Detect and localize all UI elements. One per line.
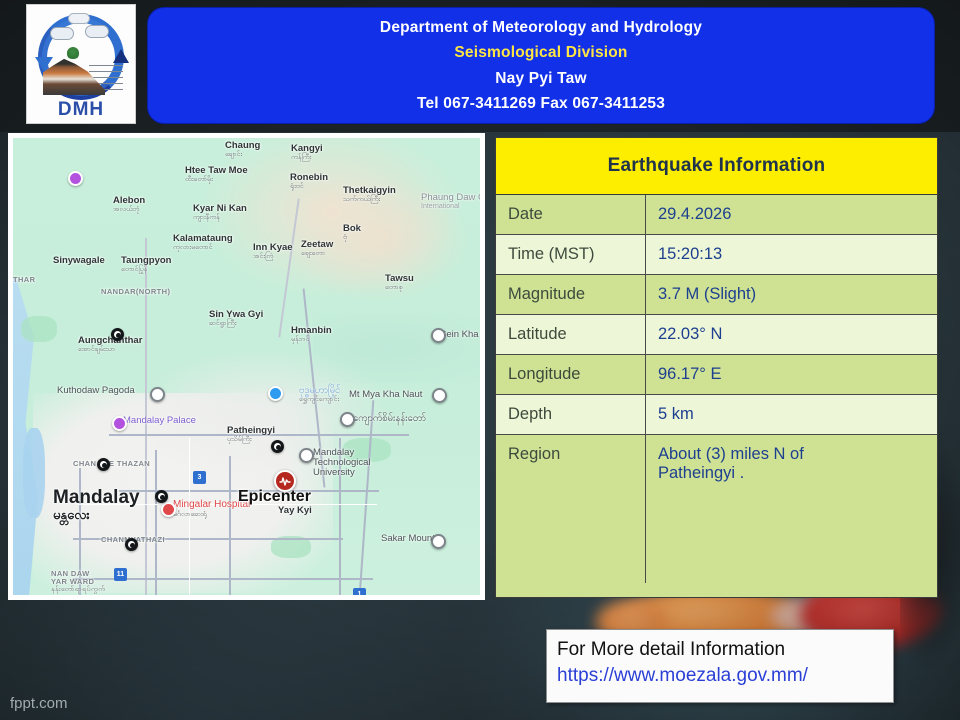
table-cell-label: Magnitude xyxy=(496,275,646,314)
table-cell-label: Latitude xyxy=(496,315,646,354)
banner-line-division: Seismological Division xyxy=(454,40,627,65)
map-label: Sin Ywa Gyiဆင်ရွာကြီး xyxy=(209,310,263,327)
map-pin-pagoda[interactable] xyxy=(150,387,165,402)
map-route-shield-icon: 1 xyxy=(353,588,366,595)
table-cell-value: 5 km xyxy=(646,395,937,434)
map-pin-palace[interactable] xyxy=(112,416,127,431)
map-label: Taungpyonတောင်ပြုန် xyxy=(121,256,171,273)
table-title: Earthquake Information xyxy=(608,155,826,177)
table-row: Date 29.4.2026 xyxy=(496,195,937,235)
map-green-patch xyxy=(21,316,57,342)
logo-cloud-icon-left xyxy=(50,27,74,40)
table-cell-value: 29.4.2026 xyxy=(646,195,937,234)
map-label: Chaungချောင်း xyxy=(225,141,260,158)
map-label: Thetkaigyinသက်ကယ်ကြီး xyxy=(343,186,396,203)
map-label: Aungchantharအောင်ချမ်းသာ xyxy=(78,336,142,353)
table-cell-label: Region xyxy=(496,435,646,583)
map-label-city: Mandalayမန္တလေး xyxy=(53,488,140,522)
map-label-district: THAR xyxy=(13,276,35,284)
table-row: Longitude 96.17° E xyxy=(496,355,937,395)
table-cell-label: Time (MST) xyxy=(496,235,646,274)
map-label: Hmanbinမှန်ဘင် xyxy=(291,326,332,343)
map-label: Tawsuတောစု xyxy=(385,274,414,291)
map-pin-mountain[interactable] xyxy=(431,328,446,343)
table-cell-label: Depth xyxy=(496,395,646,434)
region-line-2: Patheingyi . xyxy=(658,464,937,483)
map-label: Inn Kyaeအင်းကြဲ xyxy=(253,243,293,260)
table-row: Depth 5 km xyxy=(496,395,937,435)
map-label-poi: Kuthodaw Pagoda xyxy=(57,386,135,396)
map-pin-township[interactable] xyxy=(125,538,138,551)
logo-arrow-right-icon xyxy=(113,49,129,63)
map-route-shield-icon: 11 xyxy=(114,568,127,581)
map-road xyxy=(155,450,157,595)
map-label-airport: Phaung Daw OoInternational xyxy=(421,193,480,210)
header-banner: Department of Meteorology and Hydrology … xyxy=(148,8,934,123)
map-label: Sinywagale xyxy=(53,256,105,266)
table-cell-value: About (3) miles N of Patheingyi . xyxy=(646,435,937,583)
table-row: Region About (3) miles N of Patheingyi . xyxy=(496,435,937,583)
dmh-logo: DMH xyxy=(26,4,136,124)
table-cell-label: Date xyxy=(496,195,646,234)
map-pin-township[interactable] xyxy=(111,328,124,341)
map-label: Kangyiကန်ကြီး xyxy=(291,144,323,161)
map-pin-hospital[interactable] xyxy=(161,502,176,517)
map-pin-township[interactable] xyxy=(97,458,110,471)
map-label: Kalamataungကုလားမတောင် xyxy=(173,234,233,251)
table-cell-value: 96.17° E xyxy=(646,355,937,394)
map-river-branch xyxy=(23,428,45,518)
map-label: Zeetawဈေးတော xyxy=(301,240,333,257)
map-label-poi: Mt Mya Kha Naut xyxy=(349,390,422,400)
logo-tree-icon xyxy=(67,47,79,59)
table-header: Earthquake Information xyxy=(496,138,937,195)
map-canvas[interactable]: 11 3 1 Chaungချောင်း Kangyiကန်ကြီး Htee … xyxy=(13,138,480,595)
banner-line-department: Department of Meteorology and Hydrology xyxy=(380,15,702,40)
map-pin-university[interactable] xyxy=(299,448,314,463)
more-info-box: For More detail Information https://www.… xyxy=(546,629,894,703)
map-label-district: CHAN AYE THAZAN xyxy=(73,460,150,468)
logo-cloud-icon-top xyxy=(68,13,90,24)
map-label-poi: Sakar Mount xyxy=(381,534,435,544)
map-pin-mountain[interactable] xyxy=(431,534,446,549)
banner-line-city: Nay Pyi Taw xyxy=(495,66,587,91)
map-label: Patheingyiပုသိမ်ကြီး xyxy=(227,426,275,443)
watermark: fppt.com xyxy=(10,695,68,712)
map-label-poi: Mandalay Palace xyxy=(123,416,196,426)
logo-text: DMH xyxy=(27,99,135,121)
map-label: Yay Kyi xyxy=(278,506,312,516)
more-info-link[interactable]: https://www.moezala.gov.mm/ xyxy=(557,663,883,689)
table-row: Magnitude 3.7 M (Slight) xyxy=(496,275,937,315)
epicenter-label: Epicenter xyxy=(238,488,311,506)
map-pin-mountain[interactable] xyxy=(432,388,447,403)
banner-line-contact: Tel 067-3411269 Fax 067-3411253 xyxy=(417,91,665,116)
map-label: Ronebinရုံးဗင် xyxy=(290,173,328,190)
epicenter-map[interactable]: 11 3 1 Chaungချောင်း Kangyiကန်ကြီး Htee … xyxy=(8,133,485,600)
map-label-district: NAN DAWYAR WARDနန်းတော်ရာရပ်ကွက် xyxy=(51,570,105,593)
map-pin-museum[interactable] xyxy=(340,412,355,427)
map-label-poi: Sein Kha N xyxy=(440,330,480,340)
map-pin-township[interactable] xyxy=(271,440,284,453)
table-cell-value: 15:20:13 xyxy=(646,235,937,274)
table-row: Time (MST) 15:20:13 xyxy=(496,235,937,275)
map-label: Alebonအလယ်ဘုံ xyxy=(113,196,145,213)
map-label-poi: ဗုဒ္ဓမဟာမြိုင်ရွှေကျင်ကျောင်း xyxy=(299,386,340,403)
map-label-poi: ကျောက်စိမ်းနန်းတော် xyxy=(353,414,426,424)
table-cell-label: Longitude xyxy=(496,355,646,394)
map-pin-purple[interactable] xyxy=(68,171,83,186)
more-info-text: For More detail Information xyxy=(557,637,883,663)
map-label: Htee Taw Moeထီးတော်မိုး xyxy=(185,166,248,183)
map-pin-attraction[interactable] xyxy=(268,386,283,401)
table-row: Latitude 22.03° N xyxy=(496,315,937,355)
table-cell-value: 22.03° N xyxy=(646,315,937,354)
earthquake-info-table: Earthquake Information Date 29.4.2026 Ti… xyxy=(495,137,938,598)
map-route-shield-icon: 3 xyxy=(193,471,206,484)
table-cell-value: 3.7 M (Slight) xyxy=(646,275,937,314)
map-road xyxy=(229,456,231,595)
map-label: Kyar Ni Kanကျားနီကန် xyxy=(193,204,247,221)
map-pin-township[interactable] xyxy=(155,490,168,503)
logo-cloud-icon-right xyxy=(85,25,109,38)
map-label: Bokဗုံ xyxy=(343,224,361,241)
map-label-district: NANDAR(NORTH) xyxy=(101,288,170,296)
region-line-1: About (3) miles N of xyxy=(658,445,937,464)
map-label-poi: MandalayTechnologicalUniversity xyxy=(313,448,371,478)
